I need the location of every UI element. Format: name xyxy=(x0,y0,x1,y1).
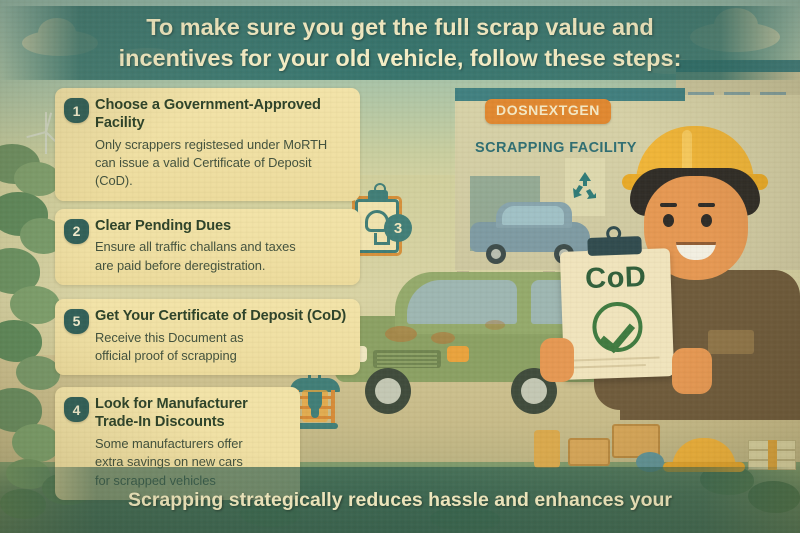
clipboard-clamp xyxy=(587,236,642,256)
dues-clipboard-icon: 3 xyxy=(352,190,410,256)
step-title-1: Choose a Government-Approved Facility xyxy=(95,97,348,133)
step-desc-2-line-2: are paid before deregistration. xyxy=(95,257,348,275)
step-title-4-line-2: Trade-In Discounts xyxy=(95,414,225,430)
step-desc-1-line-2: can issue a valid Certificate of Deposit… xyxy=(95,154,348,191)
worker-hand-left xyxy=(540,338,574,382)
step-title-4: Look for Manufacturer Trade-In Discounts xyxy=(95,396,288,432)
step-item-2[interactable]: 2 Clear Pending Dues Ensure all traffic … xyxy=(55,209,360,285)
facility-brand-sign: DOSNEXTGEN xyxy=(485,99,611,124)
step-item-1[interactable]: 1 Choose a Government-Approved Facility … xyxy=(55,88,360,201)
step-title-2: Clear Pending Dues xyxy=(95,218,348,236)
step-desc-3-line-2: official proof of scrapping xyxy=(95,347,348,365)
crate-prop xyxy=(568,438,610,466)
check-circle-icon xyxy=(592,301,644,353)
step-desc-2: Ensure all traffic challans and taxes ar… xyxy=(95,238,348,275)
step-item-3[interactable]: 5 Get Your Certificate of Deposit (CoD) … xyxy=(55,299,360,375)
step-badge-3: 5 xyxy=(64,309,89,334)
step-badge-1: 1 xyxy=(64,98,89,123)
step-title-3: Get Your Certificate of Deposit (CoD) xyxy=(95,308,348,326)
step-badge-4: 4 xyxy=(64,397,89,422)
step-desc-1: Only scrappers registesed under MoRTH ca… xyxy=(95,136,348,191)
header-line-1: To make sure you get the full scrap valu… xyxy=(146,12,654,43)
step-desc-1-line-1: Only scrappers registesed under MoRTH xyxy=(95,136,348,154)
facility-brand-text: DOSNEXTGEN xyxy=(496,102,600,118)
steps-list: 1 Choose a Government-Approved Facility … xyxy=(55,88,360,508)
header-line-2: incentives for your old vehicle, follow … xyxy=(119,43,682,74)
step-desc-3: Receive this Document as official proof … xyxy=(95,329,348,366)
infographic-poster: DOSNEXTGEN SCRAPPING FACILITY xyxy=(0,0,800,533)
step-desc-2-line-1: Ensure all traffic challans and taxes xyxy=(95,238,348,256)
cod-clipboard: CoD xyxy=(560,248,674,380)
clipboard-cod-label: CoD xyxy=(560,260,671,297)
cash-band xyxy=(768,440,777,470)
footer-caption: Scrapping strategically reduces hassle a… xyxy=(0,467,800,533)
step-badge-2: 2 xyxy=(64,219,89,244)
page-title: To make sure you get the full scrap valu… xyxy=(0,6,800,80)
step-title-4-line-1: Look for Manufacturer xyxy=(95,396,248,412)
step-desc-4-line-1: Some manufacturers offer xyxy=(95,435,288,453)
worker-hand-right xyxy=(672,348,712,394)
barrel-prop xyxy=(534,430,560,468)
step-desc-3-line-1: Receive this Document as xyxy=(95,329,348,347)
icon-badge-number: 3 xyxy=(384,214,412,242)
